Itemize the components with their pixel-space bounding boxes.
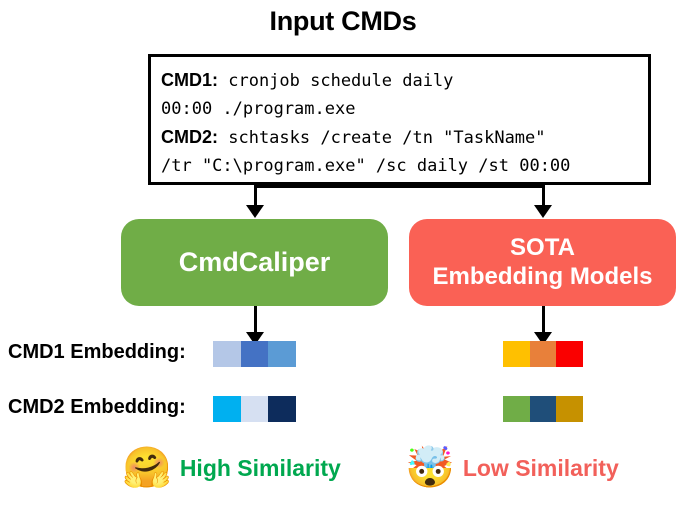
exploding-head-emoji: 🤯: [405, 448, 455, 488]
model-box-sota-line1: SOTA: [510, 234, 575, 261]
model-box-sota-label: SOTA Embedding Models: [432, 234, 652, 291]
cmd1-text-cont: 00:00 ./program.exe: [161, 99, 355, 119]
embedding-bar-cmdcaliper-cmd1: [213, 341, 296, 367]
embedding-bar-sota-cmd2: [503, 396, 583, 422]
similarity-result-low: 🤯 Low Similarity: [405, 448, 619, 488]
input-commands-box: CMD1: cronjob schedule daily 00:00 ./pro…: [148, 54, 651, 185]
hugging-face-emoji: 🤗: [122, 448, 172, 488]
model-box-sota-line2: Embedding Models: [432, 263, 652, 290]
similarity-high-label: High Similarity: [180, 455, 341, 482]
arrow-to-cmdcaliper: [246, 205, 264, 218]
cmd2-text-cont: /tr "C:\program.exe" /sc daily /st 00:00: [161, 156, 570, 176]
cmd2-label: CMD2:: [161, 127, 218, 147]
cmd1-embedding-label: CMD1 Embedding:: [8, 341, 186, 364]
embedding-segment-3: [556, 341, 583, 367]
page-title: Input CMDs: [0, 6, 686, 37]
command-line-1: CMD1: cronjob schedule daily: [161, 66, 648, 95]
cmd2-text: schtasks /create /tn "TaskName": [218, 128, 546, 148]
embedding-segment-3: [556, 396, 583, 422]
similarity-low-label: Low Similarity: [463, 455, 619, 482]
similarity-result-high: 🤗 High Similarity: [122, 448, 341, 488]
embedding-segment-1: [503, 341, 530, 367]
embedding-segment-2: [530, 396, 557, 422]
connector-vertical-right: [542, 185, 545, 207]
embedding-segment-1: [213, 341, 241, 367]
embedding-segment-2: [241, 396, 269, 422]
embedding-segment-3: [268, 341, 296, 367]
embedding-segment-1: [213, 396, 241, 422]
connector-sota-to-embedding: [542, 306, 545, 334]
model-box-cmdcaliper[interactable]: CmdCaliper: [121, 219, 388, 306]
embedding-segment-3: [268, 396, 296, 422]
connector-cmdcaliper-to-embedding: [254, 306, 257, 334]
connector-vertical-left: [254, 185, 257, 207]
cmd1-text: cronjob schedule daily: [218, 71, 453, 91]
embedding-segment-2: [241, 341, 269, 367]
cmd2-embedding-label: CMD2 Embedding:: [8, 396, 186, 419]
embedding-bar-sota-cmd1: [503, 341, 583, 367]
command-line-4: /tr "C:\program.exe" /sc daily /st 00:00: [161, 152, 648, 180]
cmd1-label: CMD1:: [161, 70, 218, 90]
command-line-3: CMD2: schtasks /create /tn "TaskName": [161, 123, 648, 152]
embedding-bar-cmdcaliper-cmd2: [213, 396, 296, 422]
connector-horizontal-split: [254, 185, 545, 188]
command-line-2: 00:00 ./program.exe: [161, 95, 648, 123]
embedding-segment-1: [503, 396, 530, 422]
model-box-cmdcaliper-label: CmdCaliper: [179, 247, 331, 279]
arrow-to-sota: [534, 205, 552, 218]
model-box-sota[interactable]: SOTA Embedding Models: [409, 219, 676, 306]
embedding-segment-2: [530, 341, 557, 367]
